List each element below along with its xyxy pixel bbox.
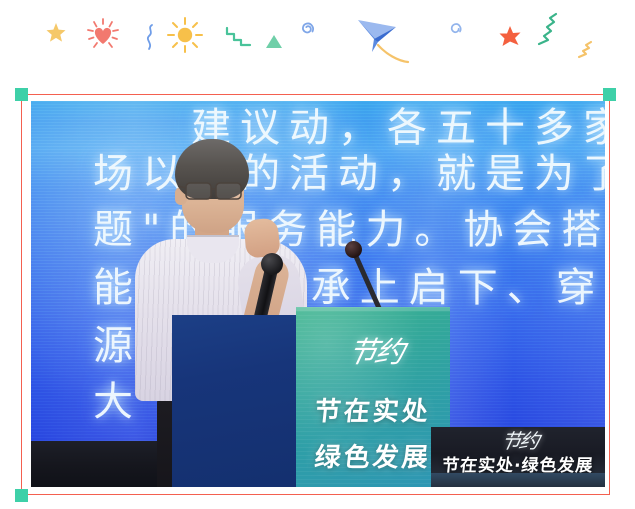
spiral-small-icon — [447, 19, 467, 39]
floor-banner-logo-text: 节约 — [472, 427, 568, 451]
corner-square-top-left — [15, 88, 28, 101]
corner-square-top-right — [603, 88, 616, 101]
zigzag-teal-icon — [534, 12, 560, 46]
microphone-head — [261, 253, 283, 275]
heart-burst-icon — [84, 16, 122, 54]
triangle-icon — [265, 34, 283, 49]
floor-banner-bottom-strip — [431, 473, 605, 487]
star-icon — [45, 22, 67, 44]
speaker-glasses — [177, 181, 249, 201]
podium-slogan-line-1: 节在实处 — [294, 391, 450, 428]
paper-plane-icon — [352, 14, 430, 72]
podium-microphone-head — [345, 241, 362, 258]
star-red-icon — [498, 25, 522, 49]
podium-logo-text: 节约 — [318, 329, 435, 369]
podium: 节约 节在实处 绿色发展 — [172, 307, 450, 487]
floor-banner: 节约 节在实处·绿色发展 — [431, 427, 605, 487]
conference-photo: 建议动，各五十多家企 场以上的活动，就是为了整合 题"的服务能力。协会搭建的节 … — [31, 101, 605, 487]
podium-top-edge — [296, 307, 450, 311]
spiral-icon — [298, 18, 320, 40]
decorative-doodle-band — [0, 0, 635, 84]
sun-icon — [166, 16, 204, 54]
podium-slogan-line-2: 绿色发展 — [294, 437, 450, 474]
podium-side-panel — [172, 315, 298, 487]
page-root: 建议动，各五十多家企 场以上的活动，就是为了整合 题"的服务能力。协会搭建的节 … — [0, 0, 635, 509]
zigzag-green-icon — [225, 26, 253, 48]
zigzag-gold-icon — [572, 40, 594, 60]
corner-square-bottom-left — [15, 489, 28, 502]
squiggle-icon — [145, 24, 157, 50]
